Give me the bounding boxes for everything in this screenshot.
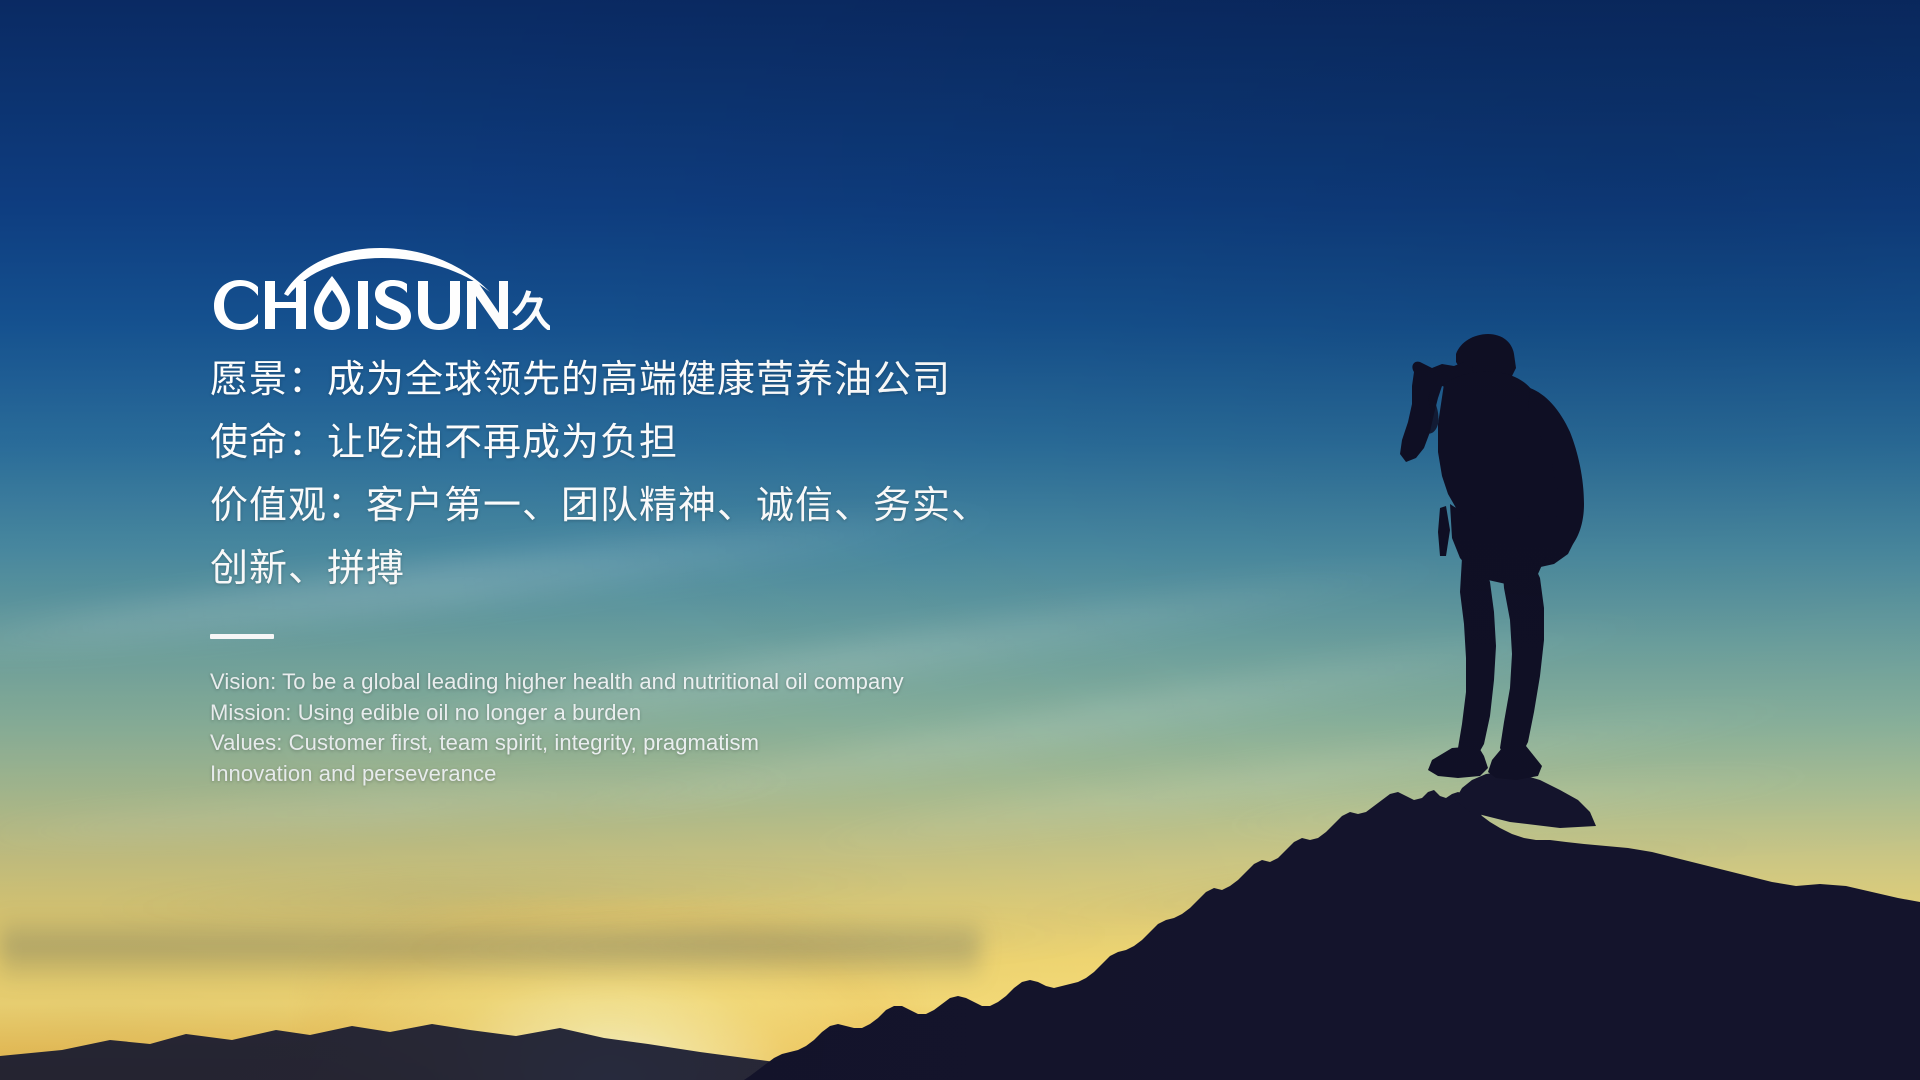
vision-line-cn: 愿景：成为全球领先的高端健康营养油公司 [210,348,1130,411]
choisun-logo[interactable]: 久晟 [210,248,550,330]
statement-chinese: 愿景：成为全球领先的高端健康营养油公司 使命：让吃油不再成为负担 价值观：客户第… [210,348,1130,600]
mission-line-cn: 使命：让吃油不再成为负担 [210,411,1130,474]
statement-english: Vision: To be a global leading higher he… [210,667,1130,789]
content-block: 久晟 愿景：成为全球领先的高端健康营养油公司 使命：让吃油不再成为负担 价值观：… [210,248,1130,789]
logo-wordmark [214,276,508,330]
hero-banner: 久晟 愿景：成为全球领先的高端健康营养油公司 使命：让吃油不再成为负担 价值观：… [0,0,1920,1080]
section-divider [210,634,274,639]
main-summit-ridge-shape [744,790,1920,1080]
logo-cjk-text: 久晟 [512,288,550,330]
hiker-body-shape [1400,334,1584,780]
values-line-cn-continued: 创新、拼搏 [210,537,1130,600]
mission-line-en: Mission: Using edible oil no longer a bu… [210,698,1130,729]
values-line-en: Values: Customer first, team spirit, int… [210,728,1130,759]
water-droplet-icon [314,276,350,330]
hiker-silhouette [1380,328,1630,788]
values-line-cn: 价值观：客户第一、团队精神、诚信、务实、 [210,474,1130,537]
values-line-en-continued: Innovation and perseverance [210,759,1130,790]
vision-line-en: Vision: To be a global leading higher he… [210,667,1130,698]
